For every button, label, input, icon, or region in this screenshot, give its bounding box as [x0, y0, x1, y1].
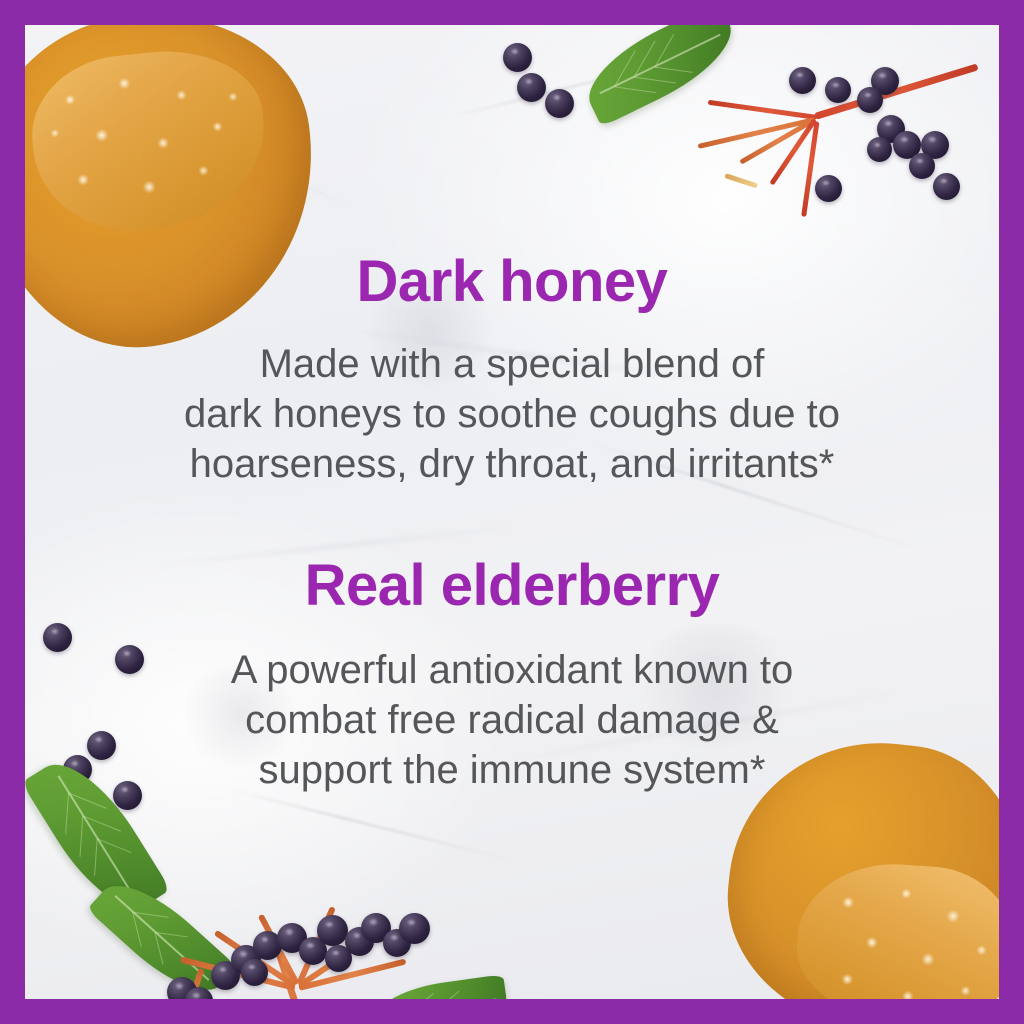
product-benefit-graphic: Dark honey Made with a special blend of … — [0, 0, 1024, 1024]
benefit-description-line: hoarseness, dry throat, and irritants* — [184, 439, 840, 489]
benefit-block-real-elderberry: Real elderberry A powerful antioxidant k… — [231, 557, 794, 795]
benefit-description-line: Made with a special blend of — [184, 339, 840, 389]
benefit-heading: Dark honey — [184, 253, 840, 311]
benefit-description: Made with a special blend of dark honeys… — [184, 339, 840, 489]
benefit-description-line: dark honeys to soothe coughs due to — [184, 389, 840, 439]
benefit-block-dark-honey: Dark honey Made with a special blend of … — [184, 253, 840, 489]
benefit-heading: Real elderberry — [231, 557, 794, 615]
benefits-content: Dark honey Made with a special blend of … — [25, 25, 999, 999]
benefit-description: A powerful antioxidant known to combat f… — [231, 645, 794, 795]
benefit-description-line: support the immune system* — [231, 745, 794, 795]
benefit-description-line: combat free radical damage & — [231, 695, 794, 745]
benefit-description-line: A powerful antioxidant known to — [231, 645, 794, 695]
marble-background-panel: Dark honey Made with a special blend of … — [25, 25, 999, 999]
